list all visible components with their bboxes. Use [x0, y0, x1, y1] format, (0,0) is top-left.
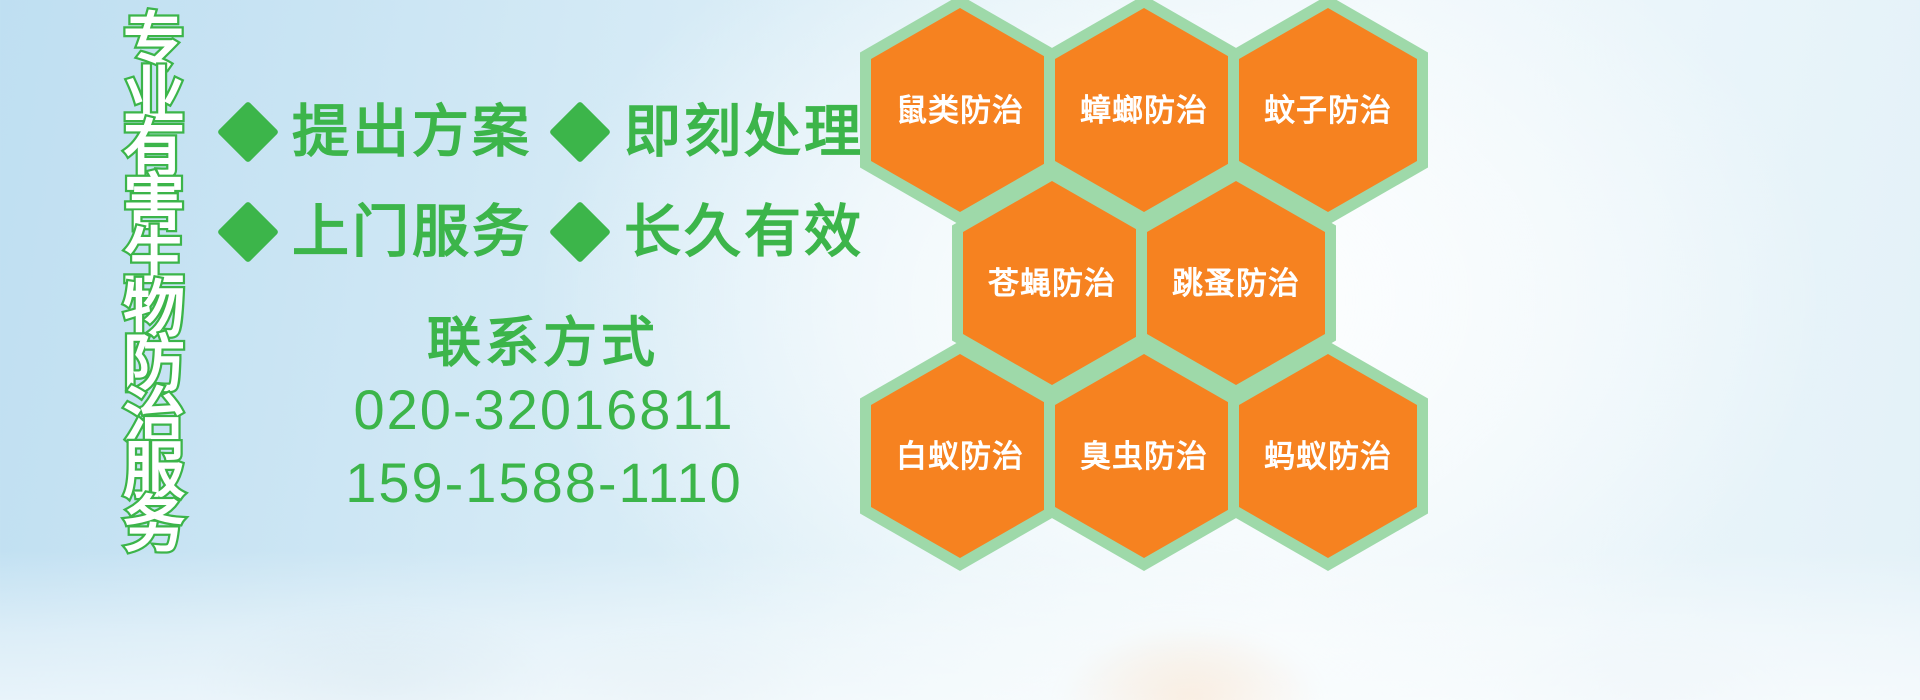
- feature-list: 提出方案 即刻处理 上门服务 长久有效: [226, 82, 866, 282]
- hex-inner: 蚂蚁防治: [1239, 354, 1417, 558]
- phone-mobile[interactable]: 159-1588-1110: [222, 447, 866, 520]
- hex-inner: 白蚁防治: [871, 354, 1049, 558]
- feature-label: 即刻处理: [624, 104, 864, 161]
- service-label: 蟑螂防治: [1080, 95, 1208, 126]
- vertical-slogan: 专业有害生物防治服务: [108, 16, 200, 552]
- feature-row-1: 提出方案 即刻处理: [226, 82, 866, 182]
- feature-item-proposal: 提出方案: [226, 104, 532, 161]
- phone-landline[interactable]: 020-32016811: [222, 374, 866, 447]
- feature-item-longlasting: 长久有效: [558, 204, 864, 261]
- hex-inner: 蚊子防治: [1239, 8, 1417, 212]
- diamond-bullet-icon: [549, 101, 611, 163]
- feature-item-immediate: 即刻处理: [558, 104, 864, 161]
- feature-label: 长久有效: [624, 204, 864, 261]
- feature-label: 提出方案: [292, 104, 532, 161]
- hex-inner: 蟑螂防治: [1055, 8, 1233, 212]
- service-label: 臭虫防治: [1080, 441, 1208, 472]
- background-blur-blob-center-left: [520, 630, 820, 700]
- hex-inner: 苍蝇防治: [963, 181, 1141, 385]
- feature-row-2: 上门服务 长久有效: [226, 182, 866, 282]
- hex-inner: 臭虫防治: [1055, 354, 1233, 558]
- service-label: 蚊子防治: [1264, 95, 1392, 126]
- service-label: 鼠类防治: [896, 95, 1024, 126]
- diamond-bullet-icon: [217, 201, 279, 263]
- service-label: 苍蝇防治: [988, 268, 1116, 299]
- service-honeycomb: 鼠类防治 蟑螂防治 蚊子防治 苍蝇防治 跳蚤防治 白蚁防治 臭虫防治 蚂蚁防: [856, 0, 1456, 700]
- diamond-bullet-icon: [217, 101, 279, 163]
- feature-label: 上门服务: [292, 204, 532, 261]
- feature-item-onsite: 上门服务: [226, 204, 532, 261]
- service-label: 跳蚤防治: [1172, 268, 1300, 299]
- hex-inner: 跳蚤防治: [1147, 181, 1325, 385]
- diamond-bullet-icon: [549, 201, 611, 263]
- hex-inner: 鼠类防治: [871, 8, 1049, 212]
- contact-block: 联系方式 020-32016811 159-1588-1110: [226, 312, 866, 520]
- service-label: 蚂蚁防治: [1264, 441, 1392, 472]
- background-blur-blob-left: [200, 610, 560, 700]
- contact-heading: 联系方式: [220, 312, 866, 374]
- service-label: 白蚁防治: [896, 441, 1024, 472]
- background-blur-blob-right: [1500, 630, 1800, 700]
